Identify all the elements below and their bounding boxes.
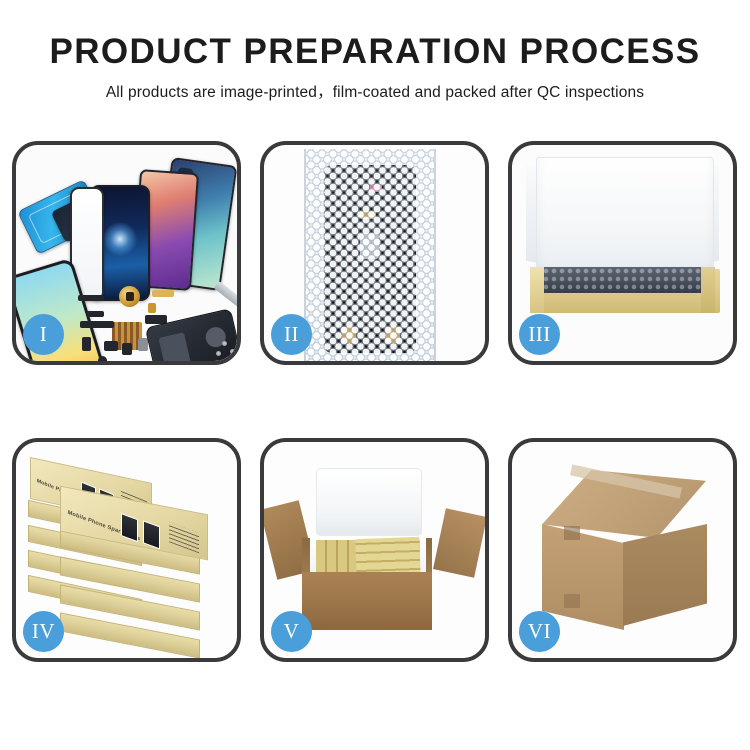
- step-badge-1: I: [23, 314, 64, 355]
- screw-icon: [216, 351, 221, 356]
- step-badge-6: VI: [519, 611, 560, 652]
- foam-lid-open-icon: [316, 468, 422, 536]
- step-badge-3: III: [519, 314, 560, 355]
- vibrator-part-icon: [104, 341, 118, 351]
- button-part-icon: [148, 303, 156, 313]
- tray-rim-left: [530, 267, 544, 313]
- box-spec-lines: [169, 522, 199, 553]
- process-step-panel-3: III: [508, 141, 737, 365]
- bubble-wrapped-contents-icon: [542, 267, 708, 293]
- carton-seam-icon: [564, 526, 580, 540]
- process-step-panel-2: II: [260, 141, 489, 365]
- flex-cable-part-icon: [152, 290, 174, 297]
- foam-lid-icon: [536, 157, 714, 277]
- process-step-panel-5: V: [260, 438, 489, 662]
- process-step-panel-1: I: [12, 141, 241, 365]
- page-title: PRODUCT PREPARATION PROCESS: [0, 34, 750, 71]
- page-subtitle: All products are image-printed，film-coat…: [0, 80, 750, 102]
- speaker-module-icon: [119, 286, 140, 307]
- screw-icon: [222, 341, 227, 346]
- screw-set-icon: [98, 356, 107, 361]
- sim-tray-icon: [122, 343, 132, 355]
- step-badge-4: IV: [23, 611, 64, 652]
- carton-seam-icon: [564, 594, 580, 608]
- bracket-part-icon: [86, 311, 104, 317]
- small-part-icon: [82, 337, 91, 351]
- antenna-part-icon: [80, 321, 114, 328]
- tray-rim-right: [701, 267, 715, 313]
- metal-shield-icon: [138, 338, 148, 351]
- bubble-wrap-bag-icon: [304, 149, 436, 361]
- page-header: PRODUCT PREPARATION PROCESS All products…: [0, 0, 750, 102]
- screw-icon: [230, 349, 235, 354]
- process-step-grid: I II: [12, 141, 738, 686]
- process-step-panel-4: Mobile Phone Spare Parts Mobile Phone Sp…: [12, 438, 241, 662]
- process-step-panel-6: VI: [508, 438, 737, 662]
- step-badge-5: V: [271, 611, 312, 652]
- box-phone-image: [143, 520, 160, 549]
- step-badge-2: II: [271, 314, 312, 355]
- carton-front-panel-icon: [302, 572, 432, 630]
- earpiece-part-icon: [78, 295, 104, 301]
- box-phone-image: [121, 513, 138, 542]
- bubble-texture: [306, 149, 434, 361]
